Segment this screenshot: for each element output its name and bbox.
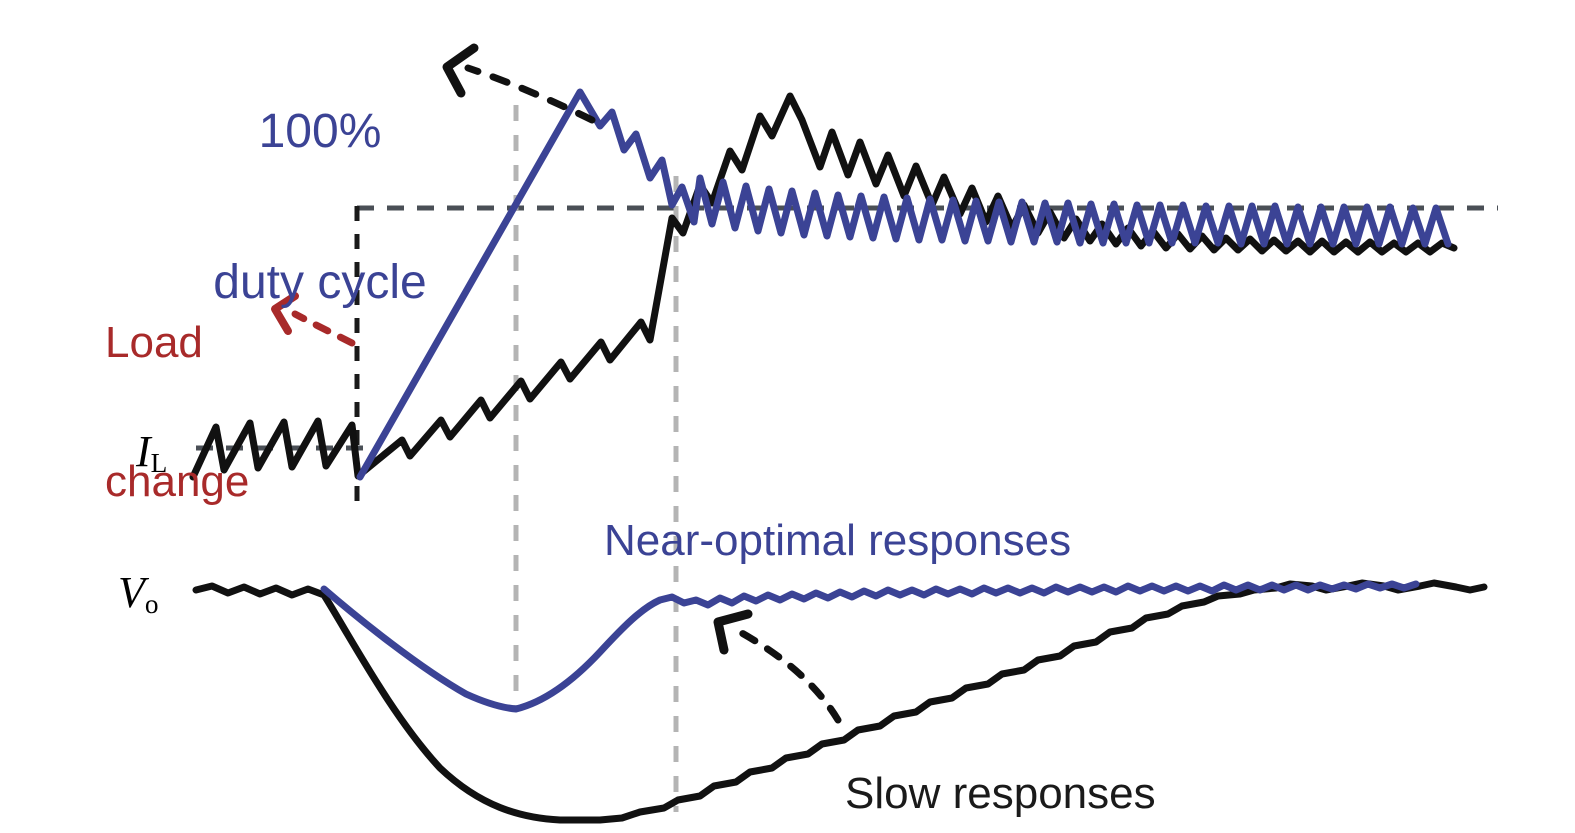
- near-optimal-responses-label: Near-optimal responses: [604, 518, 1071, 564]
- output-voltage-slow-trace: [196, 583, 1484, 820]
- inductor-current-near-optimal-trace: [360, 92, 1448, 477]
- near-optimal-arrow: [718, 614, 838, 720]
- slow-responses-label: Slow responses: [845, 771, 1156, 817]
- load-change-label: Load change: [105, 228, 355, 551]
- output-voltage-near-optimal-trace: [324, 584, 1416, 709]
- inductor-current-subscript: L: [151, 448, 168, 478]
- near-optimal-arrow-tail: [740, 632, 838, 720]
- load-change-label-line1: Load: [105, 320, 355, 366]
- output-voltage-axis-label: Vo: [118, 570, 159, 619]
- inductor-current-symbol: I: [136, 427, 151, 476]
- duty-cycle-arrow-tail: [468, 68, 592, 120]
- output-voltage-subscript: o: [145, 589, 159, 619]
- duty-cycle-label-line1: 100%: [195, 107, 445, 157]
- output-voltage-symbol: V: [118, 568, 145, 617]
- inductor-current-axis-label: IL: [136, 429, 167, 478]
